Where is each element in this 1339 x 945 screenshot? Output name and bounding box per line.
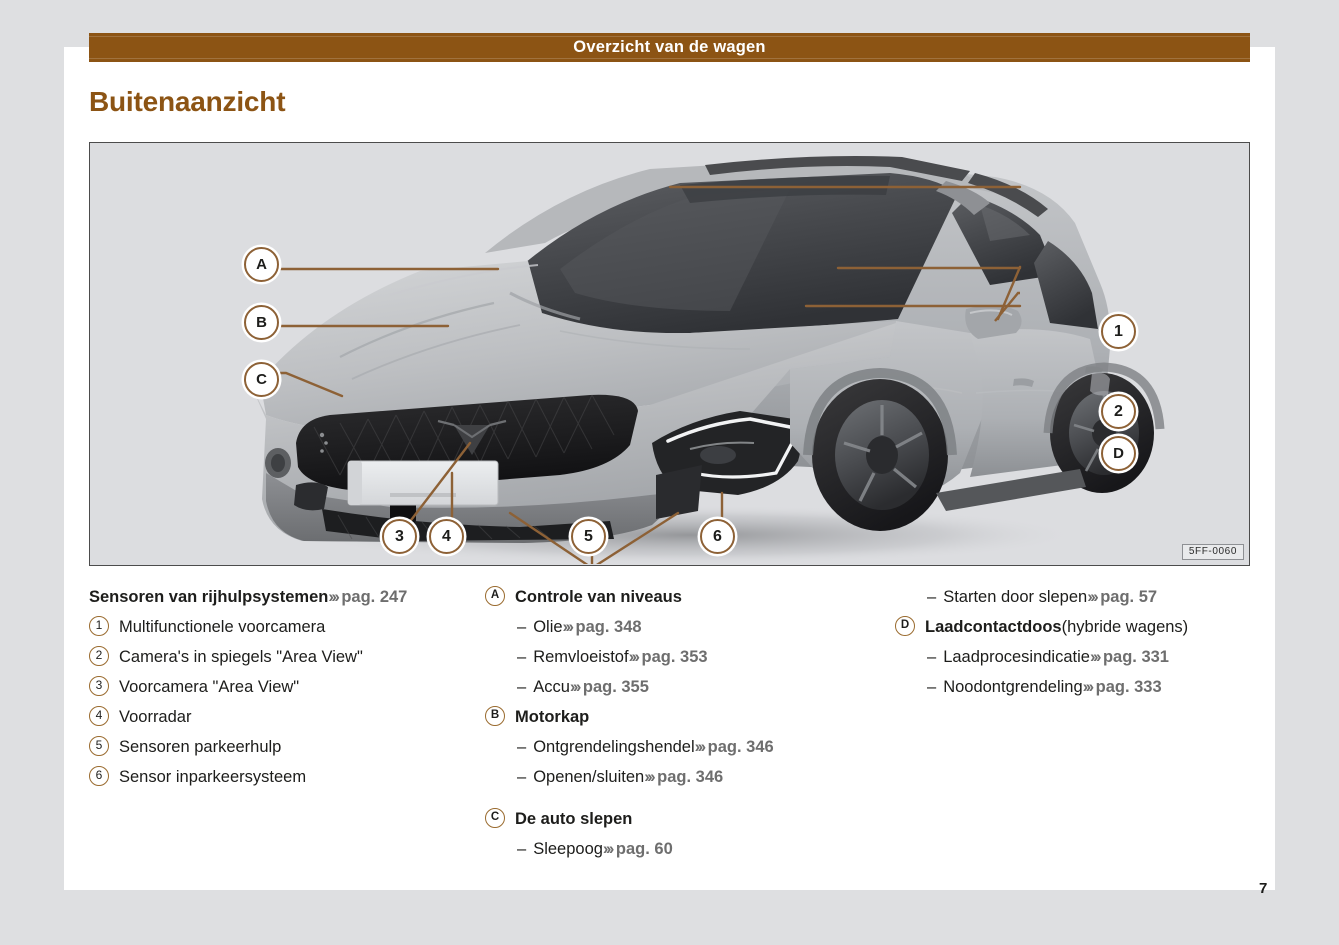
page-reference: pag. 60 <box>616 840 673 858</box>
callout-marker-1: 1 <box>1101 314 1136 349</box>
cross-reference[interactable]: ›››pag. 333 <box>1083 672 1162 702</box>
legend-item-label: Olie <box>533 612 562 642</box>
legend-group-d: D Laadcontactdoos (hybride wagens) <box>895 612 1250 642</box>
chevron-icon: ››› <box>570 678 579 696</box>
legend-item-label: Multifunctionele voorcamera <box>119 612 325 642</box>
legend-group-title: Laadcontactdoos <box>925 612 1062 642</box>
legend-group-c: C De auto slepen <box>485 804 905 834</box>
callout-label: 3 <box>395 528 404 546</box>
legend-item-label: Sensoren parkeerhulp <box>119 732 281 762</box>
side-sill <box>936 469 1086 511</box>
list-item: 3 Voorcamera "Area View" <box>89 672 489 702</box>
legend-item-label: Noodontgrendeling <box>943 672 1082 702</box>
legend-marker: C <box>485 808 505 828</box>
legend-item-label: Laadprocesindicatie <box>943 642 1090 672</box>
list-item: 5 Sensoren parkeerhulp <box>89 732 489 762</box>
headlight-projector <box>700 446 736 464</box>
legend: Sensoren van rijhulpsystemen›››pag. 247 … <box>89 582 1250 872</box>
legend-group-title: Controle van niveaus <box>515 582 682 612</box>
dash-bullet: – <box>927 642 936 672</box>
legend-marker: D <box>895 616 915 636</box>
cross-reference[interactable]: ›››pag. 348 <box>563 612 642 642</box>
legend-item-label: Starten door slepen <box>943 582 1087 612</box>
legend-spacer <box>485 792 905 804</box>
dash-bullet: – <box>517 642 526 672</box>
number-plate <box>348 461 498 505</box>
page-reference: pag. 353 <box>642 648 708 666</box>
list-item: – Starten door slepen›››pag. 57 <box>895 582 1250 612</box>
legend-column-3: – Starten door slepen›››pag. 57 D Laadco… <box>895 582 1250 702</box>
callout-label: D <box>1113 445 1124 462</box>
callout-marker-5: 5 <box>571 519 606 554</box>
callout-label: B <box>256 314 267 331</box>
callout-label: A <box>256 256 267 273</box>
cross-reference[interactable]: ›››pag. 57 <box>1087 582 1157 612</box>
legend-group-title: Motorkap <box>515 702 589 732</box>
legend-item-label: Sensor inparkeersysteem <box>119 762 306 792</box>
cross-reference[interactable]: ›››pag. 60 <box>603 834 673 864</box>
callout-label: C <box>256 371 267 388</box>
legend-item-label: Remvloeistof <box>533 642 628 672</box>
legend-marker: 1 <box>89 616 109 636</box>
legend-item-label: Openen/sluiten <box>533 762 644 792</box>
legend-marker: B <box>485 706 505 726</box>
list-item: 2 Camera's in spiegels "Area View" <box>89 642 489 672</box>
car-illustration-svg <box>90 143 1248 564</box>
left-sensor-housing <box>294 482 328 510</box>
page-reference: pag. 346 <box>708 738 774 756</box>
list-item: 1 Multifunctionele voorcamera <box>89 612 489 642</box>
chevron-icon: ››› <box>1083 678 1092 696</box>
number-plate-text <box>390 493 456 497</box>
vehicle-exterior-illustration: 1 2 D A B C 3 4 5 6 5FF-0060 <box>89 142 1250 566</box>
legend-marker: 6 <box>89 766 109 786</box>
figure-code-label: 5FF-0060 <box>1182 544 1244 560</box>
chevron-icon: ››› <box>603 840 612 858</box>
page-reference: pag. 333 <box>1096 678 1162 696</box>
callout-marker-C: C <box>244 362 279 397</box>
list-item: – Sleepoog›››pag. 60 <box>485 834 905 864</box>
legend-column-2: A Controle van niveaus – Olie›››pag. 348… <box>485 582 905 864</box>
dash-bullet: – <box>927 582 936 612</box>
chevron-icon: ››› <box>695 738 704 756</box>
legend-item-label: Ontgrendelingshendel <box>533 732 694 762</box>
callout-marker-3: 3 <box>382 519 417 554</box>
list-item: – Laadprocesindicatie›››pag. 331 <box>895 642 1250 672</box>
legend-marker: 2 <box>89 646 109 666</box>
grille-sensor-dot-1 <box>320 433 324 437</box>
callout-marker-4: 4 <box>429 519 464 554</box>
list-item: – Ontgrendelingshendel›››pag. 346 <box>485 732 905 762</box>
legend-item-label: Accu <box>533 672 570 702</box>
callout-marker-2: 2 <box>1101 394 1136 429</box>
legend-group-sensors: Sensoren van rijhulpsystemen›››pag. 247 <box>89 582 489 612</box>
legend-group-a: A Controle van niveaus <box>485 582 905 612</box>
legend-item-label: Camera's in spiegels "Area View" <box>119 642 363 672</box>
page-reference: pag. 355 <box>583 678 649 696</box>
legend-marker: 3 <box>89 676 109 696</box>
legend-marker: 4 <box>89 706 109 726</box>
legend-column-1: Sensoren van rijhulpsystemen›››pag. 247 … <box>89 582 489 792</box>
dash-bullet: – <box>517 672 526 702</box>
legend-group-title: De auto slepen <box>515 804 632 834</box>
callout-marker-D: D <box>1101 436 1136 471</box>
legend-marker: A <box>485 586 505 606</box>
list-item: – Accu›››pag. 355 <box>485 672 905 702</box>
chevron-icon: ››› <box>644 768 653 786</box>
dash-bullet: – <box>517 762 526 792</box>
page-reference: pag. 247 <box>341 588 407 606</box>
list-item: – Openen/sluiten›››pag. 346 <box>485 762 905 792</box>
tow-eye-recess <box>271 454 285 472</box>
running-header-band: Overzicht van de wagen <box>89 33 1250 62</box>
chevron-icon: ››› <box>563 618 572 636</box>
legend-group-title: Sensoren van rijhulpsystemen <box>89 582 328 612</box>
page-number: 7 <box>1259 880 1267 897</box>
callout-label: 5 <box>584 528 593 546</box>
cross-reference[interactable]: ›››pag. 247 <box>328 582 407 612</box>
page-title: Buitenaanzicht <box>89 86 285 118</box>
dash-bullet: – <box>517 612 526 642</box>
callout-marker-A: A <box>244 247 279 282</box>
callout-marker-B: B <box>244 305 279 340</box>
running-header-title: Overzicht van de wagen <box>573 38 765 57</box>
legend-item-label: Sleepoog <box>533 834 603 864</box>
chevron-icon: ››› <box>629 648 638 666</box>
header-rule-top <box>89 36 1250 37</box>
legend-group-note: (hybride wagens) <box>1062 612 1189 642</box>
cross-reference[interactable]: ›››pag. 346 <box>695 732 774 762</box>
number-plate-eu-band <box>348 461 362 505</box>
callout-marker-6: 6 <box>700 519 735 554</box>
grille-sensor-dot-2 <box>324 441 328 445</box>
list-item: 4 Voorradar <box>89 702 489 732</box>
legend-group-b: B Motorkap <box>485 702 905 732</box>
legend-item-label: Voorradar <box>119 702 191 732</box>
chevron-icon: ››› <box>328 588 337 606</box>
chevron-icon: ››› <box>1087 588 1096 606</box>
page-reference: pag. 346 <box>657 768 723 786</box>
legend-item-label: Voorcamera "Area View" <box>119 672 299 702</box>
callout-label: 4 <box>442 528 451 546</box>
header-rule-bottom <box>89 58 1250 59</box>
legend-marker: 5 <box>89 736 109 756</box>
callout-label: 6 <box>713 528 722 546</box>
page-reference: pag. 348 <box>576 618 642 636</box>
dash-bullet: – <box>517 732 526 762</box>
grille-sensor-dot-3 <box>320 449 324 453</box>
dash-bullet: – <box>517 834 526 864</box>
list-item: – Noodontgrendeling›››pag. 333 <box>895 672 1250 702</box>
dash-bullet: – <box>927 672 936 702</box>
charge-flap <box>1090 373 1110 396</box>
page-reference: pag. 331 <box>1103 648 1169 666</box>
cross-reference[interactable]: ›››pag. 355 <box>570 672 649 702</box>
chevron-icon: ››› <box>1090 648 1099 666</box>
list-item: 6 Sensor inparkeersysteem <box>89 762 489 792</box>
page-reference: pag. 57 <box>1100 588 1157 606</box>
callout-label: 2 <box>1114 403 1123 421</box>
callout-label: 1 <box>1114 323 1123 341</box>
list-item: – Olie›››pag. 348 <box>485 612 905 642</box>
list-item: – Remvloeistof›››pag. 353 <box>485 642 905 672</box>
cross-reference[interactable]: ›››pag. 353 <box>629 642 708 672</box>
cross-reference[interactable]: ›››pag. 331 <box>1090 642 1169 672</box>
cross-reference[interactable]: ›››pag. 346 <box>644 762 723 792</box>
front-wheel <box>812 379 948 531</box>
